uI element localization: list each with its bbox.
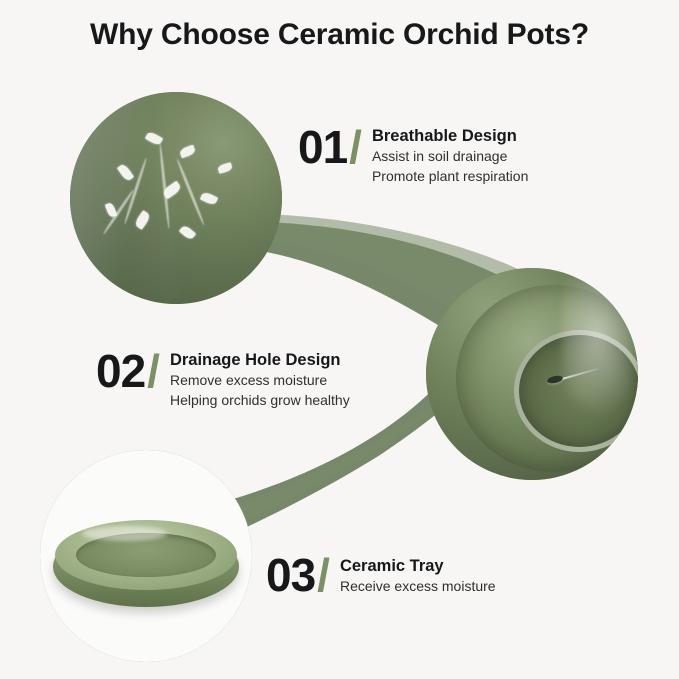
page-title: Why Choose Ceramic Orchid Pots? bbox=[0, 18, 679, 52]
feature-line: Remove excess moisture bbox=[170, 370, 350, 390]
feature-number-group-3: 03 / bbox=[266, 552, 330, 598]
highlight-gloss bbox=[70, 92, 178, 304]
infographic-page: Why Choose Ceramic Orchid Pots? bbox=[0, 0, 679, 679]
feature-block-1: 01 / Breathable Design Assist in soil dr… bbox=[298, 124, 528, 187]
feature-number: 03 bbox=[266, 552, 315, 598]
feature-text-1: Breathable Design Assist in soil drainag… bbox=[372, 124, 528, 187]
feature-text-2: Drainage Hole Design Remove excess moist… bbox=[170, 348, 350, 411]
feature-block-3: 03 / Ceramic Tray Receive excess moistur… bbox=[266, 552, 496, 598]
feature-line: Helping orchids grow healthy bbox=[170, 390, 350, 410]
feature-heading: Drainage Hole Design bbox=[170, 351, 350, 370]
feature-image-3 bbox=[40, 450, 252, 662]
feature-number: 01 bbox=[298, 124, 347, 170]
feature-number-group-2: 02 / bbox=[96, 348, 160, 394]
feature-separator: / bbox=[317, 552, 330, 598]
feature-text-3: Ceramic Tray Receive excess moisture bbox=[340, 552, 496, 596]
feature-line: Assist in soil drainage bbox=[372, 146, 528, 166]
highlight-gloss bbox=[562, 276, 638, 424]
feature-heading: Breathable Design bbox=[372, 127, 528, 146]
feature-heading: Ceramic Tray bbox=[340, 557, 496, 576]
feature-number: 02 bbox=[96, 348, 145, 394]
feature-image-2 bbox=[426, 268, 638, 480]
feature-line: Promote plant respiration bbox=[372, 166, 528, 186]
feature-image-1 bbox=[70, 92, 282, 304]
feature-line: Receive excess moisture bbox=[340, 576, 496, 596]
feature-block-2: 02 / Drainage Hole Design Remove excess … bbox=[96, 348, 350, 411]
feature-separator: / bbox=[147, 348, 160, 394]
feature-number-group-1: 01 / bbox=[298, 124, 362, 170]
feature-separator: / bbox=[349, 124, 362, 170]
